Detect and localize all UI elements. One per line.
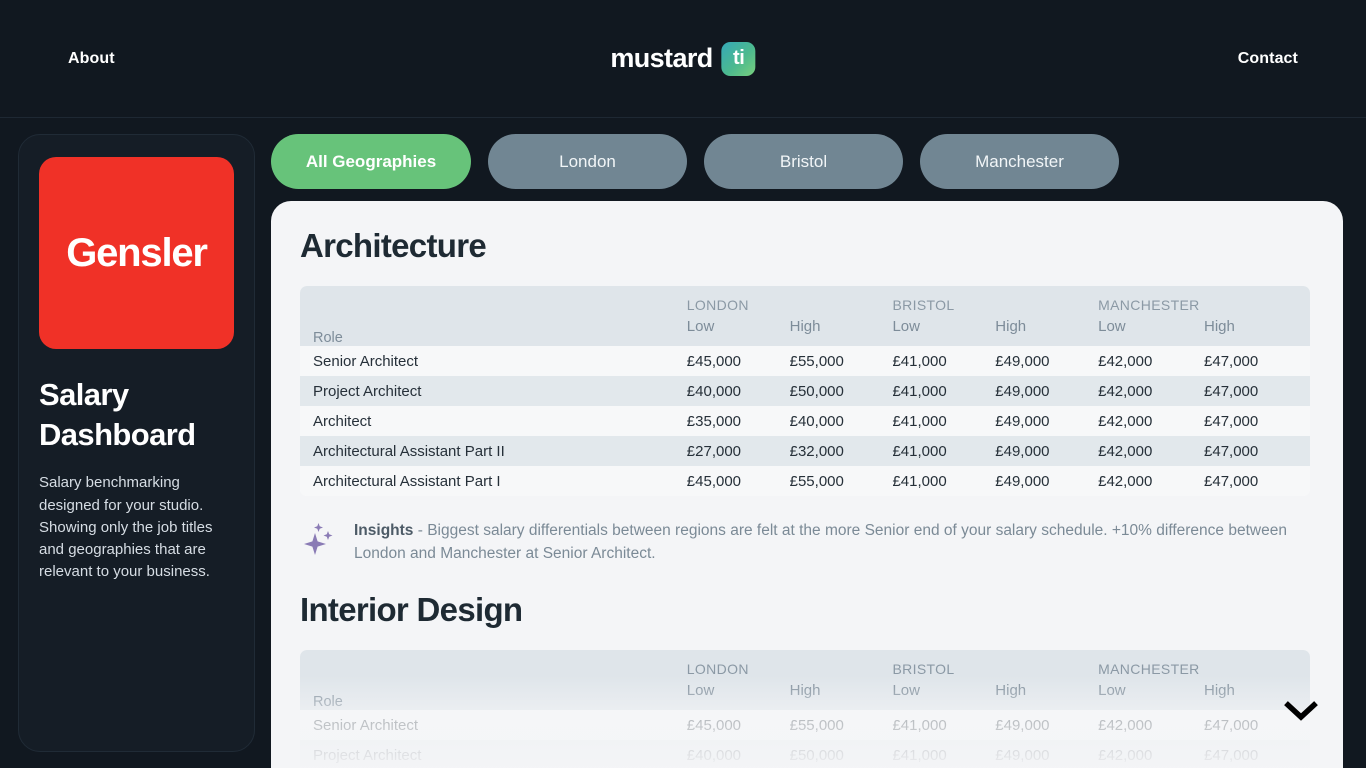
- cell-role: Architectural Assistant Part II: [300, 436, 687, 466]
- cell-role: Architectural Assistant Part I: [300, 466, 687, 496]
- table-row[interactable]: Project Architect £40,000 £50,000 £41,00…: [300, 376, 1310, 406]
- cell-bristol-high: £49,000: [995, 740, 1098, 768]
- section-title-interior-design: Interior Design: [300, 591, 1314, 629]
- cell-bristol-low: £41,000: [892, 406, 995, 436]
- cell-manchester-low: £42,000: [1098, 376, 1204, 406]
- table-row[interactable]: Architectural Assistant Part II £27,000 …: [300, 436, 1310, 466]
- cell-role: Project Architect: [300, 376, 687, 406]
- tab-bristol[interactable]: Bristol: [704, 134, 903, 189]
- insights-label: Insights: [354, 522, 413, 539]
- table-header-group-row: Role LONDON BRISTOL MANCHESTER: [300, 286, 1310, 313]
- cell-manchester-high: £47,000: [1204, 466, 1310, 496]
- cell-role: Senior Architect: [300, 346, 687, 376]
- cell-manchester-low: £42,000: [1098, 406, 1204, 436]
- cell-london-low: £40,000: [687, 376, 790, 406]
- header-group-manchester: MANCHESTER: [1098, 286, 1310, 313]
- header-group-london: LONDON: [687, 286, 893, 313]
- cell-bristol-low: £41,000: [892, 710, 995, 740]
- header-london-high: High: [790, 677, 893, 710]
- cell-manchester-low: £42,000: [1098, 710, 1204, 740]
- tab-all-geographies[interactable]: All Geographies: [271, 134, 471, 189]
- cell-london-high: £32,000: [790, 436, 893, 466]
- cell-manchester-high: £47,000: [1204, 406, 1310, 436]
- geography-tab-list: All Geographies London Bristol Mancheste…: [271, 134, 1119, 189]
- cell-manchester-low: £42,000: [1098, 466, 1204, 496]
- table-row[interactable]: Senior Architect £45,000 £55,000 £41,000…: [300, 710, 1310, 740]
- cell-manchester-high: £47,000: [1204, 346, 1310, 376]
- cell-manchester-low: £42,000: [1098, 740, 1204, 768]
- header-london-high: High: [790, 313, 893, 346]
- section-title-architecture: Architecture: [300, 227, 1314, 265]
- main-content-panel[interactable]: Architecture Role LONDON BRISTOL MANCHES…: [271, 201, 1343, 768]
- table-header-group-row: Role LONDON BRISTOL MANCHESTER: [300, 650, 1310, 677]
- nav-link-contact[interactable]: Contact: [1238, 50, 1298, 68]
- cell-london-low: £45,000: [687, 710, 790, 740]
- cell-bristol-low: £41,000: [892, 466, 995, 496]
- brand-logo[interactable]: mustard ti: [610, 42, 755, 76]
- sidebar-description: Salary benchmarking designed for your st…: [39, 472, 234, 583]
- cell-bristol-high: £49,000: [995, 376, 1098, 406]
- header-london-low: Low: [687, 677, 790, 710]
- cell-role: Architect: [300, 406, 687, 436]
- header-bristol-high: High: [995, 313, 1098, 346]
- cell-role: Senior Architect: [300, 710, 687, 740]
- nav-link-about[interactable]: About: [68, 50, 115, 68]
- page-title: Salary Dashboard: [39, 375, 234, 454]
- header-role: Role: [300, 286, 687, 346]
- table-row[interactable]: Architect £35,000 £40,000 £41,000 £49,00…: [300, 406, 1310, 436]
- sidebar-panel: Gensler Salary Dashboard Salary benchmar…: [18, 134, 255, 752]
- cell-london-high: £50,000: [790, 740, 893, 768]
- cell-london-high: £40,000: [790, 406, 893, 436]
- cell-bristol-high: £49,000: [995, 466, 1098, 496]
- salary-dashboard-app: About mustard ti Contact Gensler Salary …: [0, 0, 1366, 768]
- cell-bristol-low: £41,000: [892, 740, 995, 768]
- header-group-bristol: BRISTOL: [892, 286, 1098, 313]
- cell-manchester-high: £47,000: [1204, 740, 1310, 768]
- cell-manchester-low: £42,000: [1098, 436, 1204, 466]
- brand-badge-ti: ti: [722, 42, 756, 76]
- header-manchester-low: Low: [1098, 313, 1204, 346]
- cell-manchester-high: £47,000: [1204, 436, 1310, 466]
- table-row[interactable]: Project Architect £40,000 £50,000 £41,00…: [300, 740, 1310, 768]
- tab-manchester[interactable]: Manchester: [920, 134, 1119, 189]
- cell-role: Project Architect: [300, 740, 687, 768]
- sparkle-icon: [300, 519, 340, 561]
- chevron-down-icon[interactable]: [1284, 700, 1318, 722]
- cell-london-high: £55,000: [790, 466, 893, 496]
- cell-london-low: £45,000: [687, 346, 790, 376]
- header-bristol-high: High: [995, 677, 1098, 710]
- header-role: Role: [300, 650, 687, 710]
- cell-london-low: £45,000: [687, 466, 790, 496]
- cell-bristol-high: £49,000: [995, 346, 1098, 376]
- client-logo-tile: Gensler: [39, 157, 234, 349]
- client-logo-text: Gensler: [66, 231, 207, 276]
- cell-london-low: £35,000: [687, 406, 790, 436]
- top-navigation-bar: About mustard ti Contact: [0, 0, 1366, 118]
- table-row[interactable]: Senior Architect £45,000 £55,000 £41,000…: [300, 346, 1310, 376]
- header-london-low: Low: [687, 313, 790, 346]
- brand-wordmark: mustard: [610, 43, 712, 74]
- cell-london-high: £55,000: [790, 346, 893, 376]
- cell-bristol-high: £49,000: [995, 436, 1098, 466]
- table-row[interactable]: Architectural Assistant Part I £45,000 £…: [300, 466, 1310, 496]
- insights-body: - Biggest salary differentials between r…: [354, 522, 1287, 562]
- cell-bristol-high: £49,000: [995, 710, 1098, 740]
- header-group-bristol: BRISTOL: [892, 650, 1098, 677]
- salary-table-interior-design: Role LONDON BRISTOL MANCHESTER Low High …: [300, 650, 1310, 768]
- tab-london[interactable]: London: [488, 134, 687, 189]
- header-bristol-low: Low: [892, 313, 995, 346]
- cell-bristol-high: £49,000: [995, 406, 1098, 436]
- header-bristol-low: Low: [892, 677, 995, 710]
- cell-london-low: £40,000: [687, 740, 790, 768]
- cell-bristol-low: £41,000: [892, 346, 995, 376]
- header-manchester-low: Low: [1098, 677, 1204, 710]
- insights-callout: Insights - Biggest salary differentials …: [300, 518, 1310, 565]
- cell-bristol-low: £41,000: [892, 376, 995, 406]
- header-group-london: LONDON: [687, 650, 893, 677]
- cell-bristol-low: £41,000: [892, 436, 995, 466]
- cell-manchester-high: £47,000: [1204, 376, 1310, 406]
- cell-manchester-low: £42,000: [1098, 346, 1204, 376]
- insights-text: Insights - Biggest salary differentials …: [354, 518, 1310, 565]
- cell-london-low: £27,000: [687, 436, 790, 466]
- cell-london-high: £50,000: [790, 376, 893, 406]
- header-group-manchester: MANCHESTER: [1098, 650, 1310, 677]
- salary-table-architecture: Role LONDON BRISTOL MANCHESTER Low High …: [300, 286, 1310, 496]
- header-manchester-high: High: [1204, 313, 1310, 346]
- cell-london-high: £55,000: [790, 710, 893, 740]
